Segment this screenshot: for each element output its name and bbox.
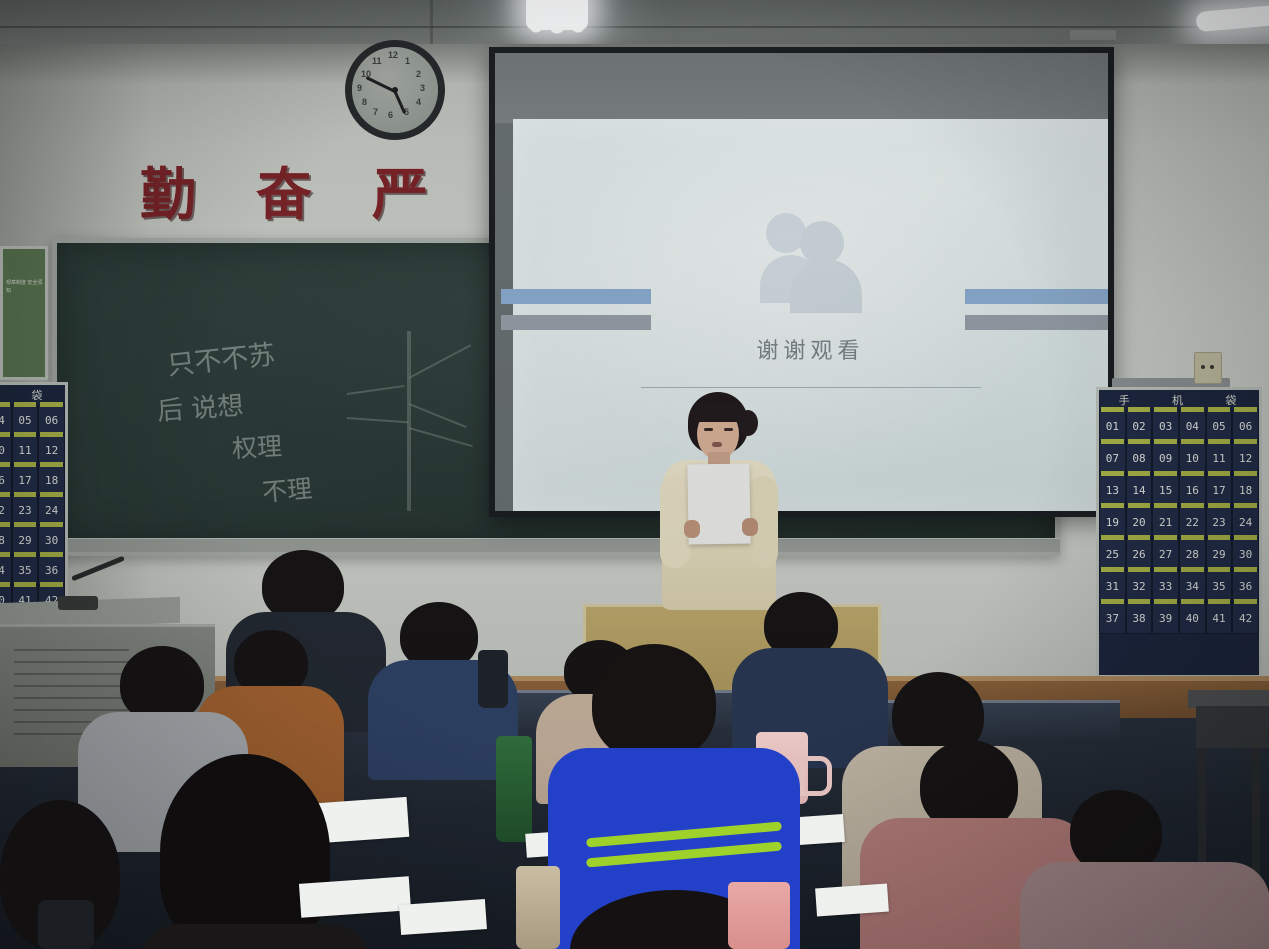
phone-pocket[interactable]: 01: [1099, 410, 1126, 442]
phone-pocket[interactable]: 18: [38, 465, 65, 495]
phone-pocket[interactable]: 24: [1232, 506, 1259, 538]
phone-pocket[interactable]: 22: [1179, 506, 1206, 538]
phone-pocket[interactable]: 28: [0, 525, 12, 555]
phone-pocket[interactable]: 11: [1206, 442, 1233, 474]
slide-ribbon-right-gray: [965, 315, 1108, 330]
phone-pocket[interactable]: 41: [1206, 602, 1233, 634]
tan-thermos: [516, 866, 560, 949]
phone-pocket[interactable]: 34: [0, 555, 12, 585]
slide-divider: [641, 387, 981, 388]
phone-pocket[interactable]: 12: [38, 435, 65, 465]
presenter-hand-right: [742, 518, 758, 536]
slide-ribbon-right-blue: [965, 289, 1108, 304]
phone-pocket[interactable]: 27: [1152, 538, 1179, 570]
phone-pocket[interactable]: 03: [1152, 410, 1179, 442]
chalk-text: 不理: [261, 469, 314, 509]
slide-ribbon-left-blue: [501, 289, 651, 304]
phone-pocket[interactable]: 17: [12, 465, 39, 495]
presenter-eye-left: [704, 428, 713, 431]
dark-bottle: [478, 650, 508, 708]
pocket-chart-header-char: 机: [1172, 392, 1186, 408]
phone-pocket[interactable]: 23: [12, 495, 39, 525]
phone-pocket[interactable]: 30: [38, 525, 65, 555]
phone-pocket[interactable]: 18: [1232, 474, 1259, 506]
motto-char-2: 奋: [256, 150, 314, 231]
phone-pocket[interactable]: 26: [1126, 538, 1153, 570]
pocket-grid: 0102030405060708091011121314151617181920…: [0, 405, 65, 615]
presenter-eye-right: [724, 428, 733, 431]
clock-numeral: 8: [362, 97, 367, 107]
chalk-tray: [52, 538, 1060, 552]
clock-numeral: 1: [405, 56, 410, 66]
clock-numeral: 7: [373, 107, 378, 117]
slide-ribbon-left-gray: [501, 315, 651, 330]
phone-pocket[interactable]: 04: [0, 405, 12, 435]
green-wall-poster: 规章制度 安全须知: [0, 246, 48, 380]
phone-pocket[interactable]: 19: [1099, 506, 1126, 538]
phone-pocket[interactable]: 32: [1126, 570, 1153, 602]
phone-pocket[interactable]: 06: [1232, 410, 1259, 442]
phone-pocket[interactable]: 15: [1152, 474, 1179, 506]
phone-pocket[interactable]: 36: [1232, 570, 1259, 602]
chalk-diagram: [347, 331, 487, 511]
clock-numeral: 2: [416, 69, 421, 79]
power-outlet[interactable]: [1194, 352, 1222, 384]
phone-pocket[interactable]: 30: [1232, 538, 1259, 570]
phone-pocket[interactable]: 05: [12, 405, 39, 435]
motto-char-1: 勤: [140, 150, 198, 231]
phone-pocket[interactable]: 29: [1206, 538, 1233, 570]
clock-center-pin: [392, 87, 398, 93]
screen-unlit-area: [495, 53, 1108, 123]
pocket-chart-header-char: 袋: [31, 387, 45, 403]
presenter-hand-left: [684, 520, 700, 538]
phone-pocket-chart-right: 手 机 袋 0102030405060708091011121314151617…: [1096, 387, 1262, 678]
phone-pocket[interactable]: 25: [1099, 538, 1126, 570]
chalk-text: 后 说想: [156, 385, 245, 428]
phone-pocket[interactable]: 38: [1126, 602, 1153, 634]
phone-pocket[interactable]: 08: [1126, 442, 1153, 474]
phone-pocket[interactable]: 24: [38, 495, 65, 525]
phone-pocket[interactable]: 16: [1179, 474, 1206, 506]
phone-pocket[interactable]: 31: [1099, 570, 1126, 602]
phone-pocket[interactable]: 29: [12, 525, 39, 555]
paper-on-desk: [815, 884, 889, 917]
phone-pocket[interactable]: 11: [12, 435, 39, 465]
ceiling-beam: [430, 0, 433, 46]
projection-screen: 谢谢观看: [489, 47, 1114, 517]
phone-pocket[interactable]: 05: [1206, 410, 1233, 442]
phone-pocket[interactable]: 10: [0, 435, 12, 465]
clock-numeral: 4: [416, 97, 421, 107]
phone-pocket[interactable]: 22: [0, 495, 12, 525]
clock-numeral: 3: [420, 83, 425, 93]
phone-pocket[interactable]: 33: [1152, 570, 1179, 602]
phone-pocket[interactable]: 02: [1126, 410, 1153, 442]
clock-numeral: 6: [388, 110, 393, 120]
projected-slide: 谢谢观看: [513, 119, 1108, 511]
pink-thermos: [728, 882, 790, 949]
phone-pocket[interactable]: 21: [1152, 506, 1179, 538]
phone-pocket[interactable]: 34: [1179, 570, 1206, 602]
ceiling-seam: [0, 26, 1269, 28]
phone-pocket[interactable]: 42: [1232, 602, 1259, 634]
phone-pocket[interactable]: 36: [38, 555, 65, 585]
ceiling-vent: [1070, 30, 1116, 40]
phone-pocket[interactable]: 37: [1099, 602, 1126, 634]
paper-on-desk: [399, 899, 487, 935]
mug-handle: [800, 756, 832, 796]
phone-pocket[interactable]: 40: [1179, 602, 1206, 634]
phone-pocket[interactable]: 07: [1099, 442, 1126, 474]
black-thermos: [38, 900, 94, 949]
phone-pocket[interactable]: 16: [0, 465, 12, 495]
pocket-chart-header-char: 手: [1119, 392, 1133, 408]
motto-char-3: 严: [372, 150, 430, 231]
phone-pocket[interactable]: 04: [1179, 410, 1206, 442]
microphone-base: [58, 596, 98, 610]
slide-title: 谢谢观看: [513, 333, 1108, 365]
presenter-mouth: [712, 442, 722, 447]
people-icon: [760, 207, 870, 317]
phone-pocket[interactable]: 20: [1126, 506, 1153, 538]
clock-numeral: 12: [388, 50, 398, 60]
phone-pocket[interactable]: 28: [1179, 538, 1206, 570]
screen-surface: 谢谢观看: [495, 53, 1108, 511]
phone-pocket[interactable]: 17: [1206, 474, 1233, 506]
presenter: [648, 392, 788, 610]
phone-pocket[interactable]: 13: [1099, 474, 1126, 506]
phone-pocket[interactable]: 10: [1179, 442, 1206, 474]
presenter-fringe: [692, 402, 746, 422]
classroom-photo: 12 1 2 3 4 5 6 7 8 9 10 11 勤 奋 严 谨 只不不苏 …: [0, 0, 1269, 949]
clock-numeral: 9: [357, 83, 362, 93]
poster-text: 规章制度 安全须知: [6, 279, 46, 295]
chalk-text: 权理: [231, 427, 283, 466]
center-light-diffuser: [526, 26, 588, 38]
phone-pocket[interactable]: 14: [1126, 474, 1153, 506]
phone-pocket[interactable]: 12: [1232, 442, 1259, 474]
right-metal-stand-body: [1196, 706, 1269, 748]
phone-pocket[interactable]: 23: [1206, 506, 1233, 538]
pocket-chart-header-char: 袋: [1225, 392, 1239, 408]
pocket-grid: 0102030405060708091011121314151617181920…: [1099, 410, 1259, 634]
clock-numeral: 11: [372, 56, 382, 66]
green-bottle: [496, 736, 532, 842]
book-on-desk: [317, 797, 410, 843]
wall-clock: 12 1 2 3 4 5 6 7 8 9 10 11: [345, 40, 445, 140]
phone-pocket[interactable]: 35: [12, 555, 39, 585]
phone-pocket[interactable]: 35: [1206, 570, 1233, 602]
phone-pocket[interactable]: 39: [1152, 602, 1179, 634]
phone-pocket[interactable]: 06: [38, 405, 65, 435]
phone-pocket[interactable]: 09: [1152, 442, 1179, 474]
